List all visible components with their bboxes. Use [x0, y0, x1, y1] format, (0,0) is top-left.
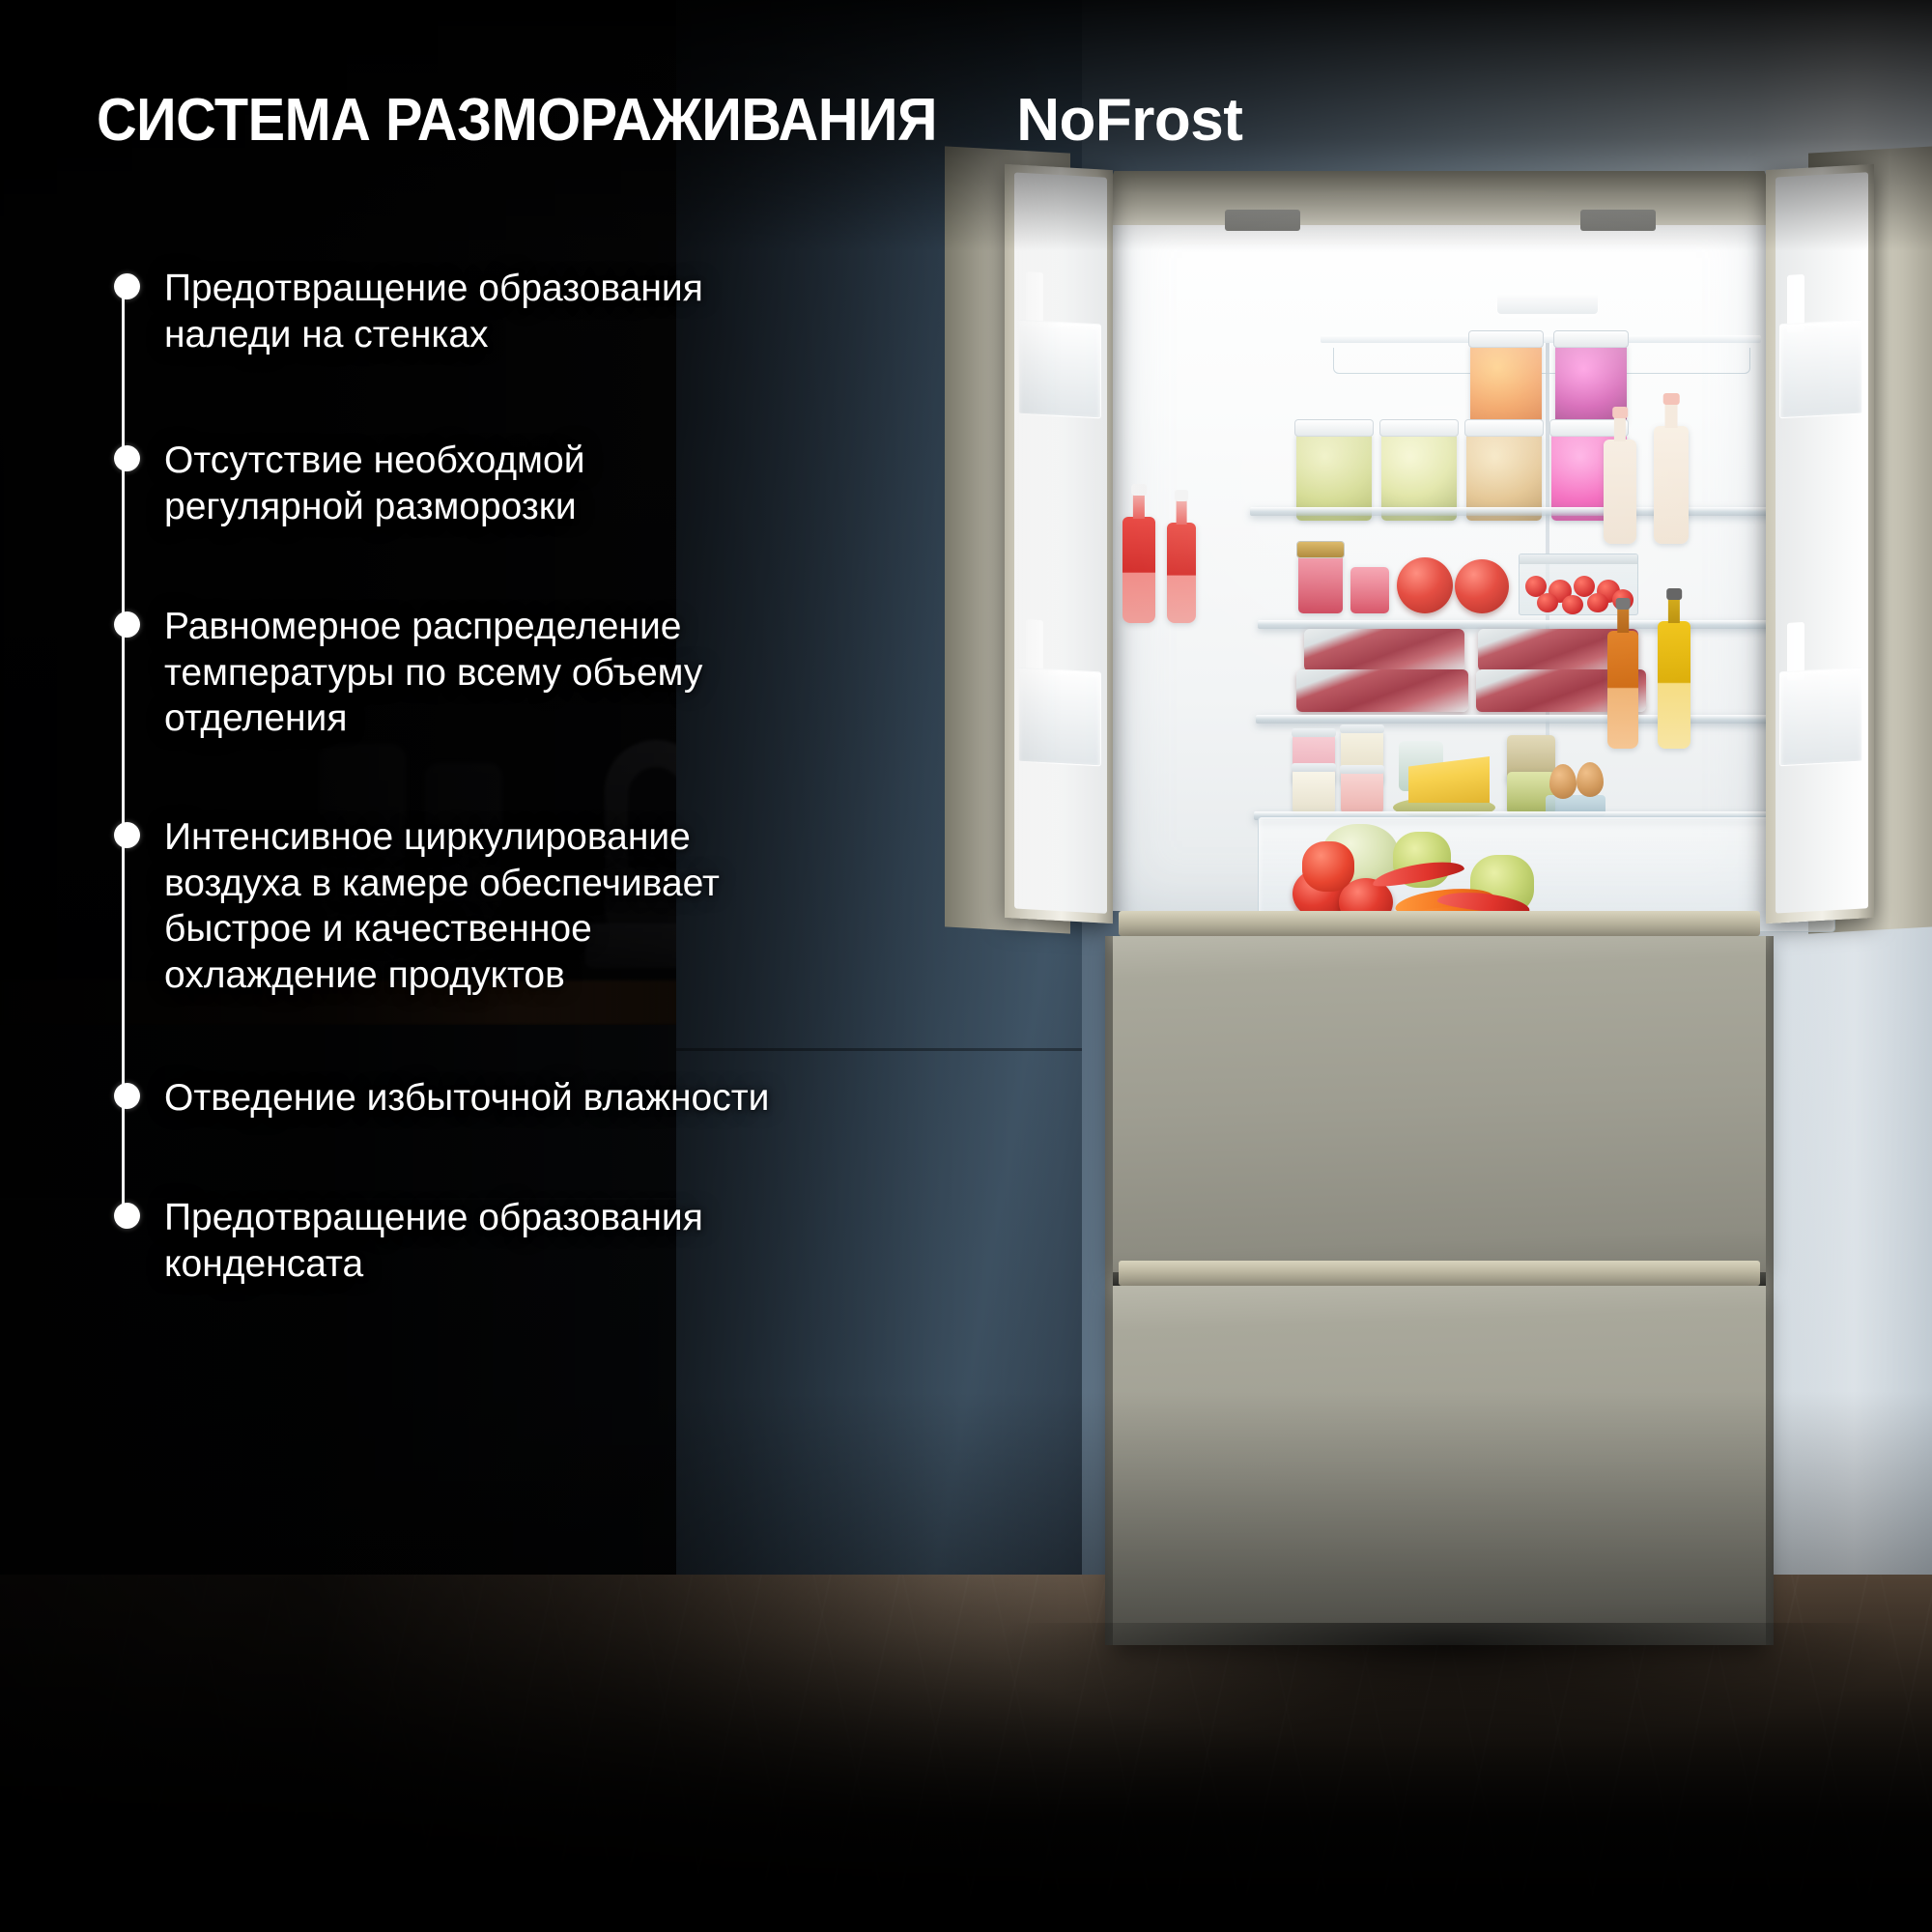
timeline-dot-6 [114, 1203, 140, 1229]
jar-small-red [1350, 567, 1389, 613]
oil-bottle-yellow [1658, 621, 1690, 749]
shelf-4 [1256, 715, 1832, 724]
door-bin-right-2 [1779, 668, 1862, 767]
shelf-3 [1258, 620, 1830, 629]
milk-bottle-2 [1654, 426, 1689, 544]
timeline-dot-5 [114, 1083, 140, 1109]
timeline-dot-2 [114, 445, 140, 471]
yogurt-cup-white [1293, 770, 1335, 814]
timeline-dot-4 [114, 822, 140, 848]
feature-timeline: Предотвращение образования наледи на сте… [0, 0, 966, 1932]
jar-red-jam [1298, 554, 1343, 613]
timeline-bullet-text-4: Интенсивное циркулирование воздуха в кам… [164, 814, 720, 998]
meat-pack-1 [1304, 629, 1464, 671]
tomato-1 [1397, 557, 1453, 613]
timeline-dot-1 [114, 273, 140, 299]
timeline-bullet-text-5: Отведение избыточной влажности [164, 1075, 769, 1122]
door-bin-right-1 [1779, 320, 1862, 419]
freezer-drawer-handle-1[interactable] [1119, 911, 1760, 936]
meat-pack-3 [1296, 669, 1468, 712]
jar-orange-preserve [1470, 343, 1542, 424]
tomato-2 [1455, 559, 1509, 613]
infographic-canvas: СИСТЕМА РАЗМОРАЖИВАНИЯ NoFrost Предотвра… [0, 0, 1932, 1932]
freezer-drawer-handle-2[interactable] [1119, 1261, 1760, 1286]
timeline-bullet-text-1: Предотвращение образования наледи на сте… [164, 266, 703, 357]
timeline-bullet-text-6: Предотвращение образования конденсата [164, 1195, 703, 1287]
timeline-bullet-text-2: Отсутствие необходмой регулярной разморо… [164, 438, 584, 529]
egg-2 [1577, 762, 1604, 797]
timeline-vertical-line [122, 286, 125, 1215]
fridge-interior-cavity [1113, 188, 1766, 911]
yogurt-cup-rose [1341, 772, 1383, 814]
oil-bottle-amber [1607, 631, 1638, 749]
freezer-drawer-1[interactable] [1113, 936, 1766, 1272]
interior-light [1497, 293, 1598, 314]
egg-1 [1549, 764, 1577, 799]
timeline-bullet-text-3: Равномерное распределение температуры по… [164, 604, 702, 742]
fridge-door-right[interactable] [1766, 164, 1874, 923]
shelf-wire-rail [1333, 348, 1750, 374]
title-latin: NoFrost [1016, 87, 1242, 154]
timeline-dot-3 [114, 611, 140, 638]
red-pepper [1302, 841, 1354, 892]
juice-bottle-1 [1122, 517, 1155, 623]
milk-bottle-1 [1604, 440, 1636, 544]
shelf-2 [1250, 507, 1833, 516]
juice-bottle-2 [1167, 523, 1196, 623]
